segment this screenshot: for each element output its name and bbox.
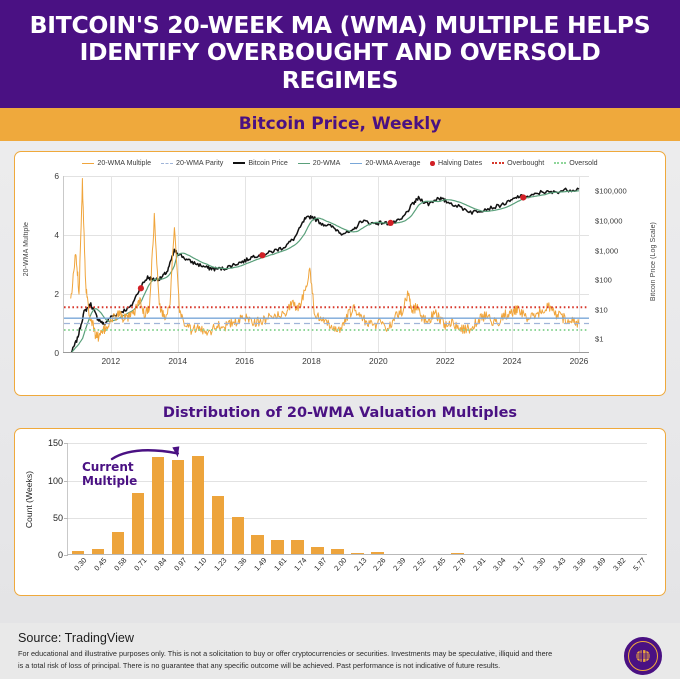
histogram-x-tick: 2.91	[471, 556, 487, 573]
subheader-title: Bitcoin Price, Weekly	[239, 114, 442, 134]
price-plot-area: 0246$100,000$10,000$1,000$100$10$1201220…	[63, 176, 589, 353]
histogram-x-tick: 3.56	[571, 556, 587, 573]
histogram-bar[interactable]	[212, 496, 224, 555]
legend-label: Overbought	[507, 159, 544, 167]
histogram-x-tick: 2.65	[431, 556, 447, 573]
histogram-x-tick: 3.04	[491, 556, 507, 573]
histogram-x-tick: 1.36	[232, 556, 248, 573]
halving-date-marker[interactable]	[520, 195, 526, 201]
y-axis-tick-right: $10	[595, 305, 608, 314]
histogram-x-tick: 1.23	[212, 556, 228, 573]
price-series-svg	[64, 176, 589, 353]
infographic-page: BITCOIN'S 20-WEEK MA (WMA) MULTIPLE HELP…	[0, 0, 680, 679]
histogram-x-tick: 0.84	[152, 556, 168, 573]
histogram-y-tick: 100	[48, 476, 63, 486]
legend-swatch-icon	[233, 162, 245, 164]
source-text: Source: TradingView	[18, 631, 664, 645]
y-axis-tick-left: 2	[54, 289, 59, 299]
x-axis-tick: 2020	[369, 356, 388, 366]
legend-item-20-wma-average[interactable]: 20-WMA Average	[350, 159, 420, 167]
histogram-x-tick: 1.49	[252, 556, 268, 573]
histogram-bar[interactable]	[152, 457, 164, 556]
histogram-x-tick: 0.71	[132, 556, 148, 573]
legend-item-20-wma-parity[interactable]: 20-WMA Parity	[161, 159, 223, 167]
annotation-line-1: Current	[82, 461, 137, 474]
histogram-x-tick: 1.10	[192, 556, 208, 573]
x-axis-tick: 2024	[503, 356, 522, 366]
legend-label: Halving Dates	[438, 159, 482, 167]
x-axis-tick: 2016	[235, 356, 254, 366]
histogram-plot-area: 0501001500.300.450.580.710.840.971.101.2…	[67, 443, 647, 555]
histogram-bar[interactable]	[271, 540, 283, 556]
histogram-x-tick: 0.45	[92, 556, 108, 573]
twenty-wma-line	[71, 191, 579, 353]
subheader-banner: Bitcoin Price, Weekly	[0, 108, 680, 141]
halving-date-marker[interactable]	[387, 220, 393, 226]
current-multiple-annotation: CurrentMultiple	[82, 461, 137, 488]
legend-label: 20-WMA Multiple	[97, 159, 151, 167]
histogram-x-tick: 0.58	[112, 556, 128, 573]
histogram-x-tick: 1.61	[272, 556, 288, 573]
histogram-x-tick: 3.43	[551, 556, 567, 573]
histogram-y-axis-label: Count (Weeks)	[24, 471, 34, 528]
y-axis-tick-right: $100,000	[595, 187, 627, 196]
histogram-x-tick: 3.17	[511, 556, 527, 573]
logo-glyph-icon	[633, 646, 653, 666]
histogram-x-tick: 1.74	[292, 556, 308, 573]
histogram-bar[interactable]	[251, 535, 263, 556]
y-axis-label-right: Bitcoin Price (Log Scale)	[650, 222, 657, 301]
x-axis-tick: 2014	[168, 356, 187, 366]
halving-date-marker[interactable]	[259, 253, 265, 259]
disclaimer-text: For educational and illustrative purpose…	[18, 648, 558, 671]
page-title: BITCOIN'S 20-WEEK MA (WMA) MULTIPLE HELP…	[18, 12, 662, 94]
histogram-x-axis-line	[67, 554, 647, 555]
legend-item-20-wma[interactable]: 20-WMA	[298, 159, 341, 167]
bitcoin-price-line	[71, 189, 579, 353]
y-axis-tick-left: 0	[54, 348, 59, 358]
legend-item-20-wma-multiple[interactable]: 20-WMA Multiple	[82, 159, 151, 167]
histogram-bar[interactable]	[172, 460, 184, 556]
histogram-plot-wrapper: Count (Weeks) 0501001500.300.450.580.710…	[21, 433, 659, 591]
histogram-card: Count (Weeks) 0501001500.300.450.580.710…	[14, 428, 666, 596]
x-axis-tick: 2026	[570, 356, 589, 366]
histogram-title: Distribution of 20-WMA Valuation Multipl…	[14, 405, 666, 421]
histogram-x-tick: 0.30	[72, 556, 88, 573]
histogram-bar[interactable]	[192, 456, 204, 555]
histogram-x-tick: 3.82	[611, 556, 627, 573]
histogram-x-tick: 3.69	[591, 556, 607, 573]
legend-swatch-icon	[161, 163, 173, 164]
histogram-gridline	[68, 443, 647, 444]
legend-item-oversold[interactable]: Oversold	[554, 159, 597, 167]
histogram-y-tick: 0	[58, 550, 63, 560]
histogram-x-tick: 1.87	[312, 556, 328, 573]
logo-inner-ring	[628, 641, 658, 671]
histogram-x-tick: 0.97	[172, 556, 188, 573]
histogram-x-tick: 2.00	[332, 556, 348, 573]
price-plot-wrapper: 20-WMA Multiple Bitcoin Price (Log Scale…	[21, 170, 659, 375]
x-axis-tick: 2022	[436, 356, 455, 366]
histogram-y-tick: 150	[48, 438, 63, 448]
histogram-y-tick: 50	[53, 513, 63, 523]
histogram-bar[interactable]	[132, 493, 144, 555]
legend-item-bitcoin-price[interactable]: Bitcoin Price	[233, 159, 287, 167]
histogram-bar[interactable]	[112, 532, 124, 555]
y-axis-tick-right: $10,000	[595, 216, 622, 225]
content-area: 20-WMA Multiple20-WMA ParityBitcoin Pric…	[0, 141, 680, 623]
histogram-bar[interactable]	[291, 540, 303, 556]
histogram-bar[interactable]	[232, 517, 244, 555]
legend-swatch-icon	[298, 163, 310, 164]
legend-item-overbought[interactable]: Overbought	[492, 159, 544, 167]
histogram-x-tick: 2.52	[412, 556, 428, 573]
y-axis-tick-right: $1,000	[595, 246, 618, 255]
histogram-x-tick: 2.39	[392, 556, 408, 573]
legend-swatch-icon	[350, 163, 362, 164]
x-axis-tick: 2012	[101, 356, 120, 366]
legend-label: Oversold	[569, 159, 597, 167]
legend-swatch-icon	[430, 161, 435, 166]
y-axis-label-left: 20-WMA Multiple	[23, 222, 30, 276]
x-axis-line	[63, 352, 589, 353]
annotation-line-2: Multiple	[82, 475, 137, 488]
y-axis-tick-left: 6	[54, 171, 59, 181]
chart-legend: 20-WMA Multiple20-WMA ParityBitcoin Pric…	[21, 157, 659, 170]
legend-item-halving-dates[interactable]: Halving Dates	[430, 159, 482, 167]
legend-label: 20-WMA Average	[365, 159, 420, 167]
histogram-x-tick: 5.77	[631, 556, 647, 573]
legend-label: 20-WMA Parity	[176, 159, 223, 167]
histogram-x-tick: 3.30	[531, 556, 547, 573]
y-axis-tick-right: $100	[595, 276, 612, 285]
legend-label: 20-WMA	[313, 159, 341, 167]
histogram-x-tick: 2.26	[372, 556, 388, 573]
y-axis-tick-right: $1	[595, 335, 603, 344]
y-axis-tick-left: 4	[54, 230, 59, 240]
halving-date-marker[interactable]	[138, 286, 144, 292]
legend-swatch-icon	[554, 162, 566, 164]
legend-swatch-icon	[492, 162, 504, 164]
x-axis-tick: 2018	[302, 356, 321, 366]
histogram-x-tick: 2.78	[451, 556, 467, 573]
footer: Source: TradingView For educational and …	[0, 623, 680, 679]
legend-label: Bitcoin Price	[248, 159, 287, 167]
histogram-x-tick: 2.13	[352, 556, 368, 573]
price-chart-card: 20-WMA Multiple20-WMA ParityBitcoin Pric…	[14, 151, 666, 396]
legend-swatch-icon	[82, 163, 94, 164]
bitcoin-brand-logo-icon	[624, 637, 662, 675]
header-banner: BITCOIN'S 20-WEEK MA (WMA) MULTIPLE HELP…	[0, 0, 680, 108]
